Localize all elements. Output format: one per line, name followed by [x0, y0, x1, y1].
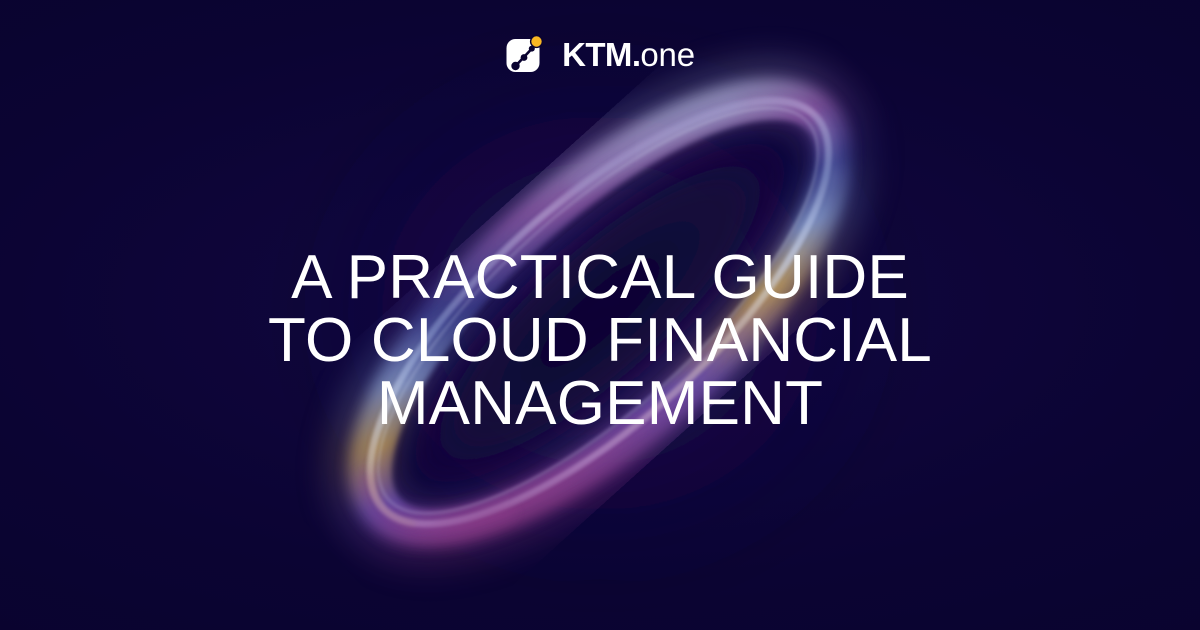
title-line-2: TO CLOUD FINANCIAL: [40, 309, 1160, 372]
title-line-3: MANAGEMENT: [40, 372, 1160, 435]
wordmark-bold: KTM.: [562, 38, 640, 71]
title-line-1: A PRACTICAL GUIDE: [40, 246, 1160, 309]
page-title: A PRACTICAL GUIDE TO CLOUD FINANCIAL MAN…: [0, 246, 1200, 435]
brand-wordmark: KTM.one: [562, 38, 695, 71]
social-share-card: KTM.one A PRACTICAL GUIDE TO CLOUD FINAN…: [0, 0, 1200, 630]
brand-logo-lockup[interactable]: KTM.one: [0, 32, 1200, 76]
wordmark-light: one: [640, 38, 694, 71]
ktm-logo-icon: [505, 32, 549, 76]
